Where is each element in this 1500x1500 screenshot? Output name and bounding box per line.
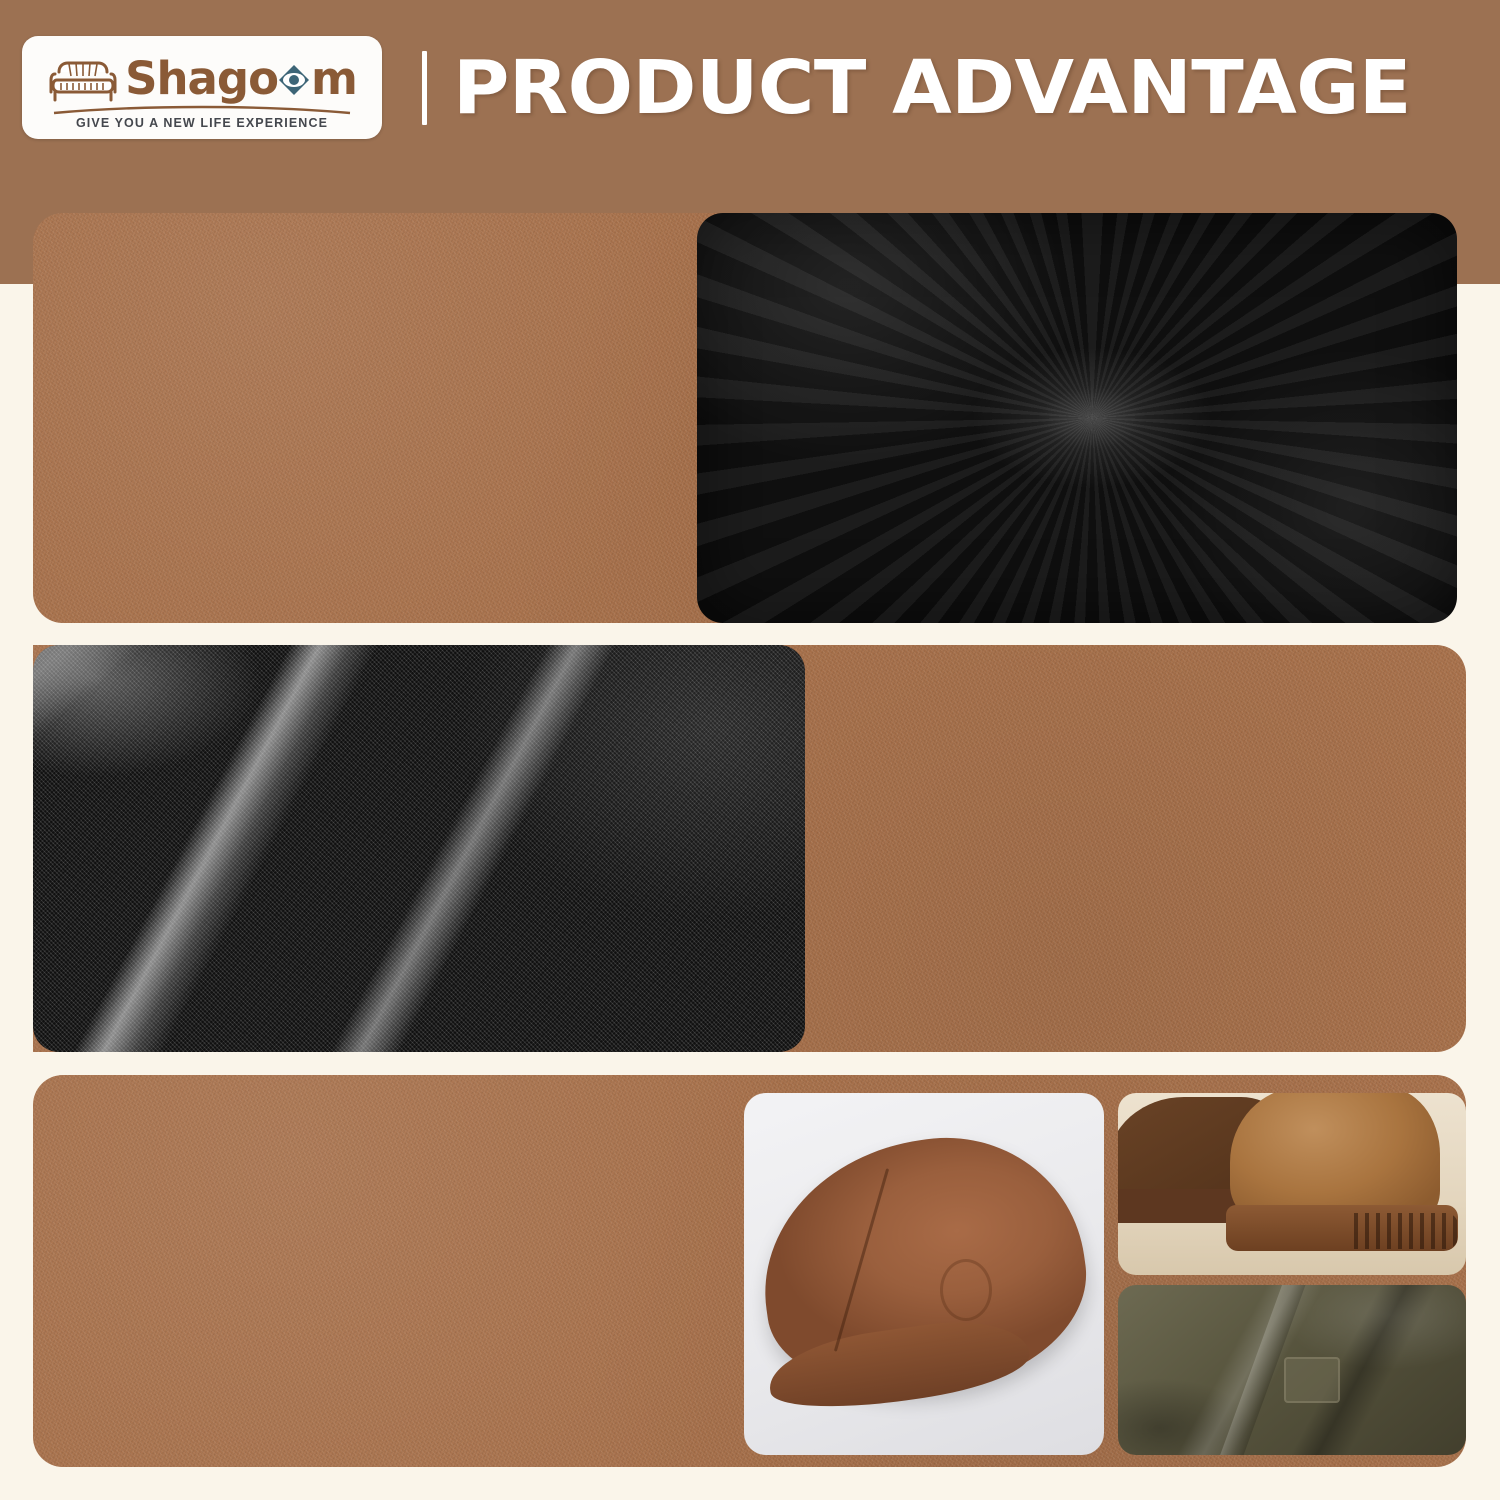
brand-wordmark-part3: m bbox=[311, 56, 357, 101]
page-title: PRODUCT ADVANTAGE bbox=[453, 45, 1411, 131]
black-swirled-suede-photo bbox=[697, 213, 1457, 623]
header-inner: Shago m GIVE YOU A NEW LIFE EXPERIENCE P… bbox=[0, 0, 1500, 175]
suede-flat-cap-photo bbox=[744, 1093, 1104, 1455]
title-divider bbox=[422, 51, 427, 125]
flat-cap-badge bbox=[940, 1259, 992, 1321]
sofa-icon bbox=[47, 50, 119, 106]
brand-logo-plate[interactable]: Shago m GIVE YOU A NEW LIFE EXPERIENCE bbox=[22, 36, 382, 139]
olive-suede-garment-photo bbox=[1118, 1285, 1466, 1455]
eye-icon bbox=[277, 63, 311, 97]
brand-tagline: GIVE YOU A NEW LIFE EXPERIENCE bbox=[76, 116, 328, 130]
suede-platform-boot-photo bbox=[1118, 1093, 1466, 1275]
brand-wordmark-part1: Shago bbox=[125, 56, 278, 101]
boot-tread bbox=[1354, 1213, 1458, 1249]
logo-row: Shago m bbox=[47, 49, 357, 107]
logo-swoosh-divider bbox=[52, 105, 352, 115]
garment-patch bbox=[1284, 1357, 1340, 1403]
brand-wordmark: Shago m bbox=[125, 56, 357, 101]
adhesive-backing-photo bbox=[33, 645, 805, 1052]
